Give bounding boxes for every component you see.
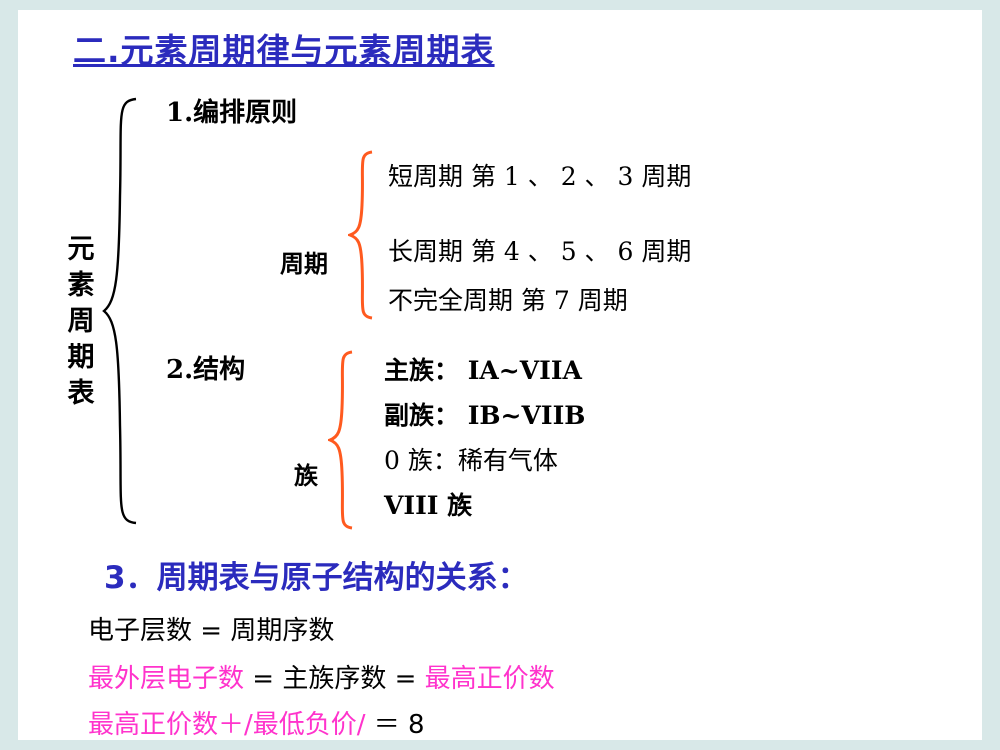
outer-brace-icon bbox=[102, 96, 138, 526]
section3-line-2: 最外层电子数 = 主族序数 = 最高正价数 bbox=[88, 658, 555, 695]
section3-title: 3．周期表与原子结构的关系： bbox=[104, 552, 529, 597]
vertical-topic-label: 元 素 周 期 表 bbox=[64, 232, 98, 412]
section3-line2-part1: 最外层电子数 bbox=[88, 664, 244, 694]
heading-arrangement-principle: 1.编排原则 bbox=[166, 92, 297, 129]
label-period: 周期 bbox=[280, 244, 328, 279]
section3-line-1: 电子层数 = 周期序数 bbox=[88, 610, 334, 647]
label-group: 族 bbox=[294, 456, 318, 491]
group-row-viii: VIII 族 bbox=[384, 486, 472, 522]
section3-line-3: 最高正价数＋∕最低负价∕ ＝ 8 bbox=[88, 704, 425, 741]
vertical-label-char-3: 期 bbox=[64, 340, 98, 376]
period-row-long: 长周期 第 4 、 5 、 6 周期 bbox=[388, 232, 691, 268]
vertical-label-char-4: 表 bbox=[64, 376, 98, 412]
vertical-label-char-0: 元 bbox=[64, 232, 98, 268]
section3-line3-part1: 最高正价数＋∕最低负价∕ bbox=[88, 710, 366, 740]
period-brace-icon bbox=[348, 150, 374, 320]
group-row-main: 主族： IA~VIIA bbox=[384, 351, 582, 387]
vertical-label-char-1: 素 bbox=[64, 268, 98, 304]
heading-structure: 2.结构 bbox=[166, 349, 245, 386]
section3-line2-part3: 最高正价数 bbox=[425, 664, 555, 694]
page-title: 二.元素周期律与元素周期表 bbox=[73, 24, 495, 72]
section3-line3-part2: ＝ 8 bbox=[366, 710, 425, 740]
period-row-incomplete: 不完全周期 第 7 周期 bbox=[388, 281, 628, 317]
vertical-label-char-2: 周 bbox=[64, 304, 98, 340]
slide-canvas: 二.元素周期律与元素周期表 元 素 周 期 表 1.编排原则 2.结构 周期 族… bbox=[18, 10, 982, 740]
section3-line2-part2: = 主族序数 = bbox=[244, 664, 425, 694]
group-row-sub: 副族： IB~VIIB bbox=[384, 396, 585, 432]
group-row-zero: 0 族：稀有气体 bbox=[384, 441, 558, 477]
period-row-short: 短周期 第 1 、 2 、 3 周期 bbox=[388, 157, 691, 193]
group-brace-icon bbox=[328, 350, 354, 530]
